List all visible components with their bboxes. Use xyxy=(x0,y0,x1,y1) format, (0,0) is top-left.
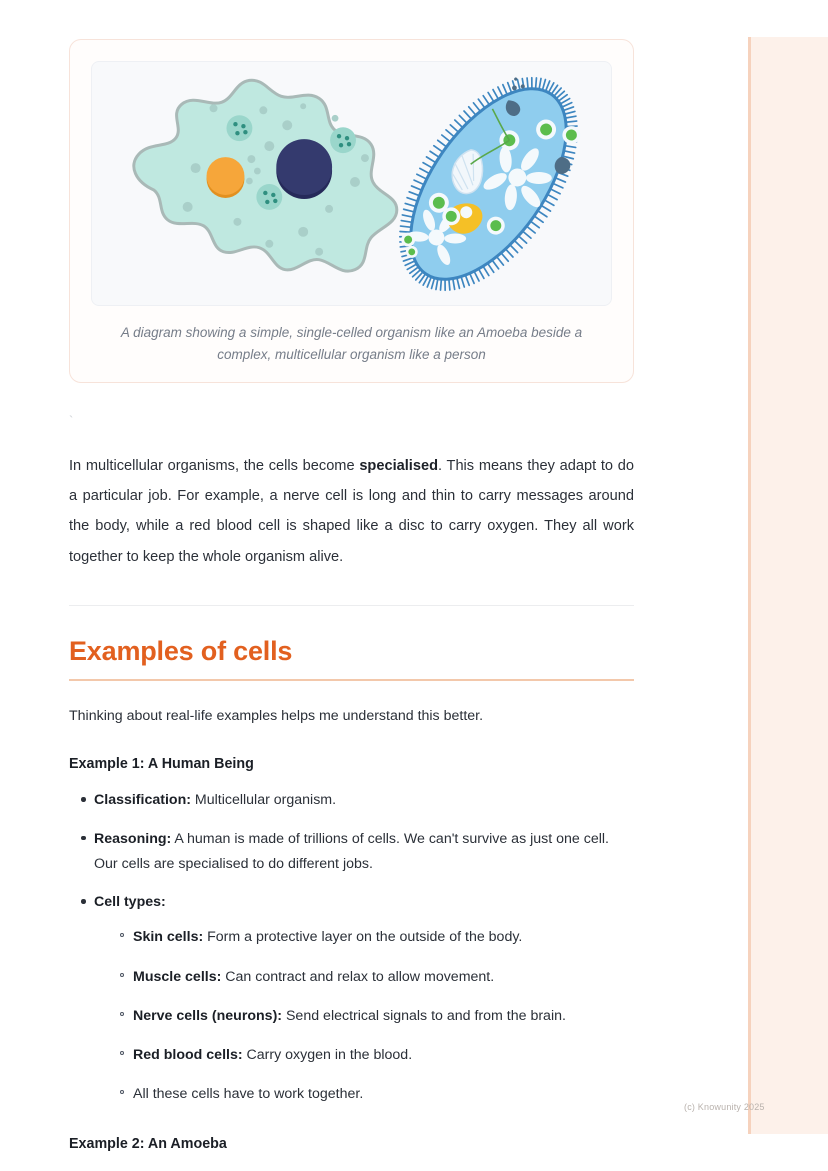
page-title: Examples of cells xyxy=(69,636,634,681)
bullet-text: Multicellular organism. xyxy=(191,792,336,808)
list-item: Reasoning: A human is made of trillions … xyxy=(69,827,634,878)
figure-card: A diagram showing a simple, single-celle… xyxy=(69,39,634,383)
figure-image-frame xyxy=(91,61,612,306)
cells-diagram-svg xyxy=(92,62,611,305)
subbullet-text: All these cells have to work together. xyxy=(133,1086,363,1102)
subbullet-text: Form a protective layer on the outside o… xyxy=(203,929,522,945)
document-content: A diagram showing a simple, single-celle… xyxy=(69,39,634,1152)
specialised-bold-term: specialised xyxy=(359,458,438,474)
bullet-label: Reasoning: xyxy=(94,831,171,847)
intro-paragraph: In multicellular organisms, the cells be… xyxy=(69,451,634,572)
list-item: Cell types: Skin cells: Form a protectiv… xyxy=(69,890,634,1108)
paramecium-illustration xyxy=(365,62,611,305)
cell-types-sublist: Skin cells: Form a protective layer on t… xyxy=(108,925,634,1107)
example-2-title: Example 2: An Amoeba xyxy=(69,1136,634,1152)
subbullet-label: Muscle cells: xyxy=(133,969,221,985)
bullet-label: Cell types: xyxy=(94,894,166,910)
list-item: Classification: Multicellular organism. xyxy=(69,788,634,813)
example-1-title: Example 1: A Human Being xyxy=(69,756,634,772)
intro-part1: In multicellular organisms, the cells be… xyxy=(69,458,359,474)
subbullet-label: Red blood cells: xyxy=(133,1047,243,1063)
list-item: Muscle cells: Can contract and relax to … xyxy=(108,965,634,990)
amoeba-illustration xyxy=(134,80,397,271)
stray-backtick-artifact: ` xyxy=(69,414,634,432)
subbullet-text: Can contract and relax to allow movement… xyxy=(221,969,494,985)
amoeba-nucleus xyxy=(276,139,332,195)
bullet-label: Classification: xyxy=(94,792,191,808)
list-item: Skin cells: Form a protective layer on t… xyxy=(108,925,634,950)
right-side-panel xyxy=(748,37,828,1134)
section-lead-line: Thinking about real-life examples helps … xyxy=(69,704,634,728)
list-item: Nerve cells (neurons): Send electrical s… xyxy=(108,1004,634,1029)
example-1-bullet-list: Classification: Multicellular organism. … xyxy=(69,788,634,1108)
subbullet-label: Nerve cells (neurons): xyxy=(133,1008,282,1024)
list-item: Red blood cells: Carry oxygen in the blo… xyxy=(108,1043,634,1068)
subbullet-text: Carry oxygen in the blood. xyxy=(243,1047,413,1063)
list-item: All these cells have to work together. xyxy=(108,1082,634,1107)
amoeba-vacuole xyxy=(207,157,245,195)
subbullet-label: Skin cells: xyxy=(133,929,203,945)
subbullet-text: Send electrical signals to and from the … xyxy=(282,1008,566,1024)
copyright-watermark: (c) Knowunity 2025 xyxy=(684,1102,765,1112)
figure-caption: A diagram showing a simple, single-celle… xyxy=(91,322,612,366)
section-divider xyxy=(69,605,634,606)
bullet-text: A human is made of trillions of cells. W… xyxy=(94,831,609,872)
